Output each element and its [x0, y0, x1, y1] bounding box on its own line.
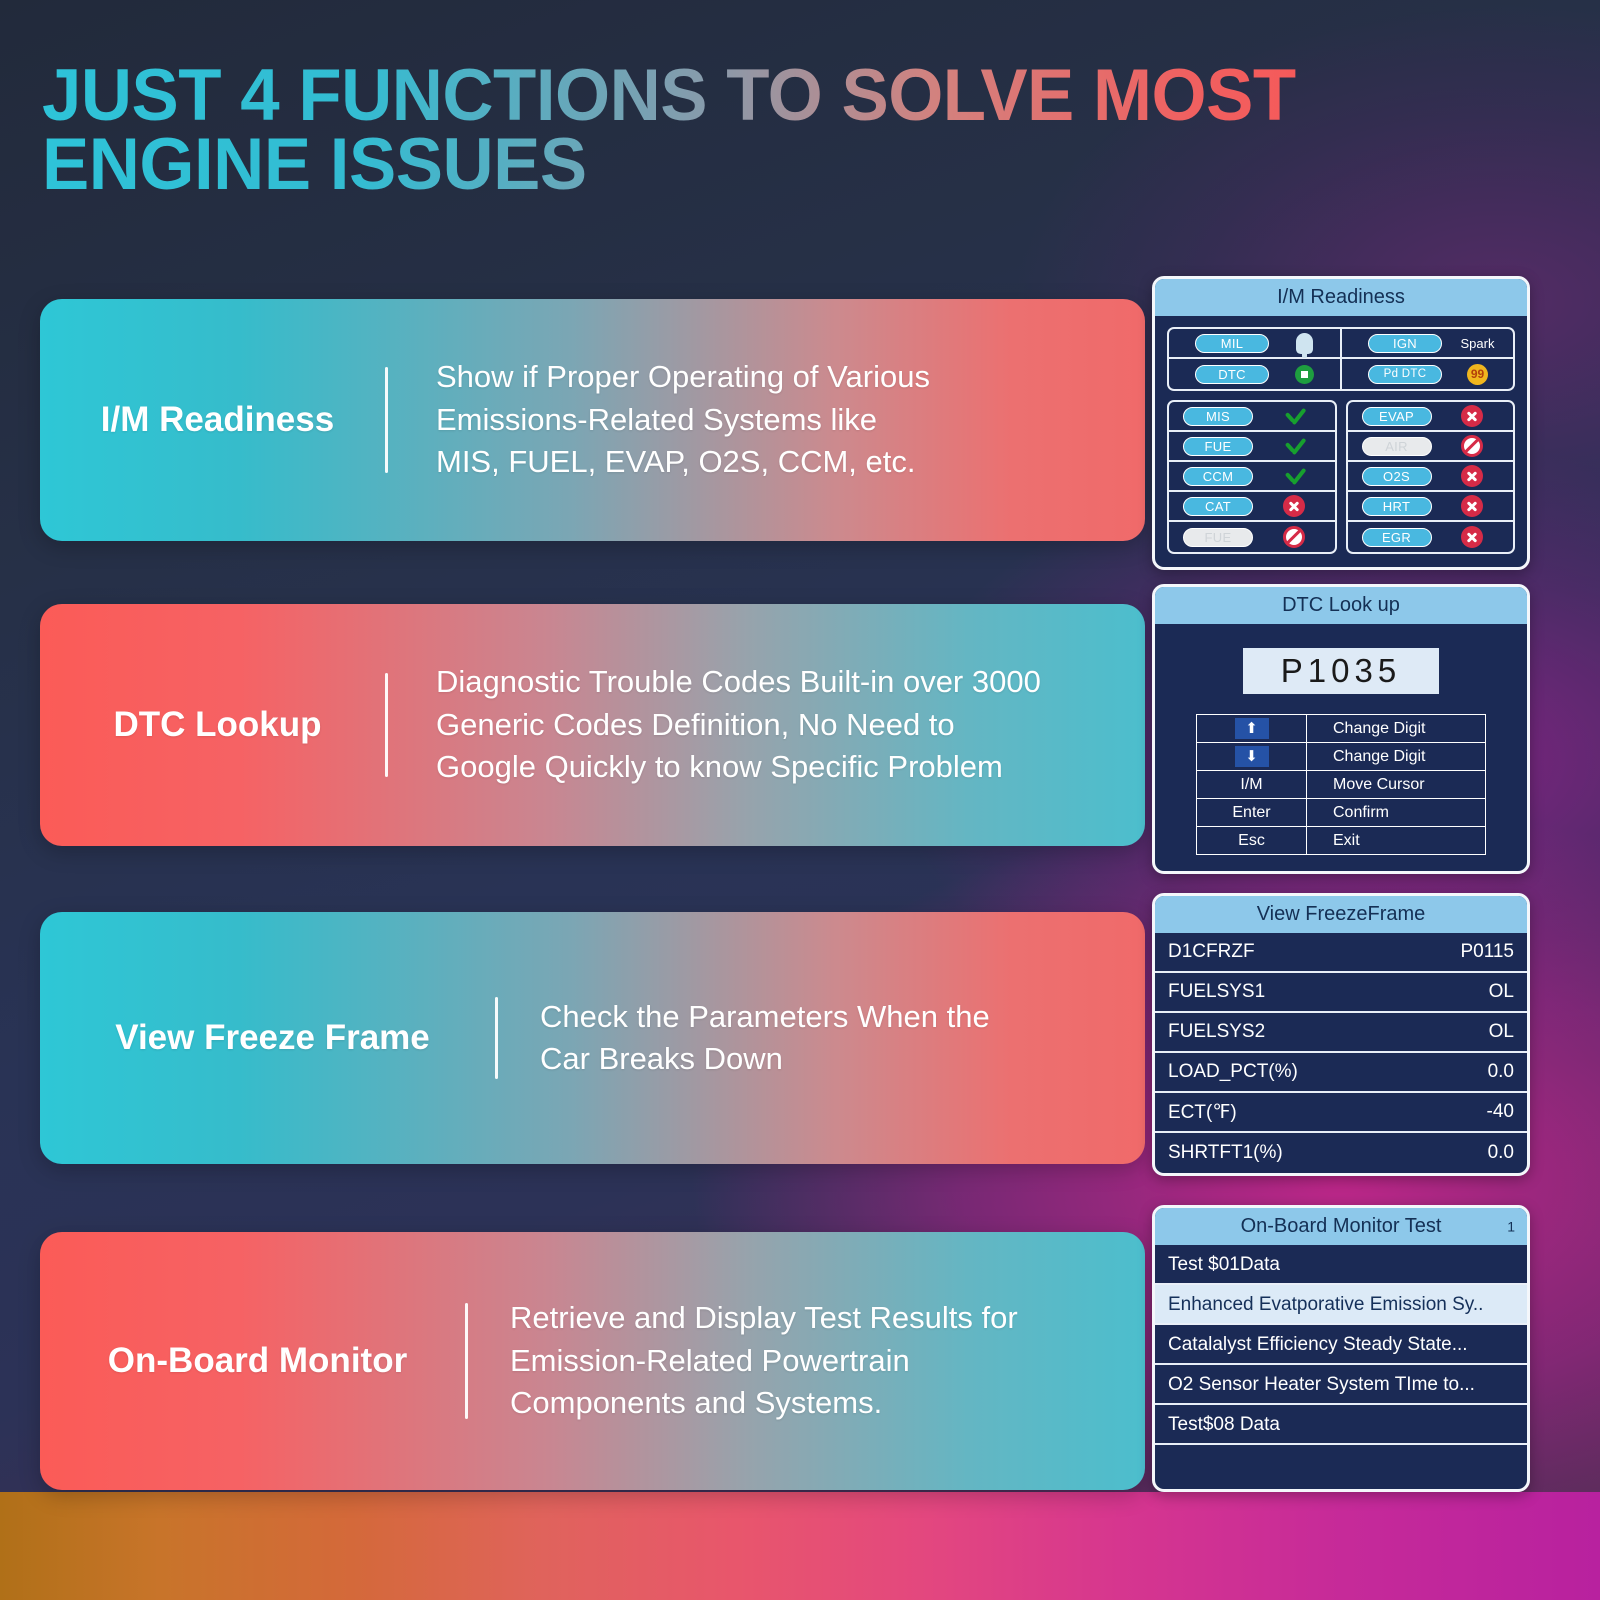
- table-row[interactable]: FUELSYS2 OL: [1155, 1013, 1527, 1053]
- not-available-icon: [1283, 526, 1305, 548]
- check-icon: [1282, 438, 1306, 454]
- desc-line: Google Quickly to know Specific Problem: [436, 746, 1125, 788]
- im-row[interactable]: EGR: [1348, 522, 1514, 552]
- feature-card-title: I/M Readiness: [40, 400, 385, 440]
- feature-card-dtc-lookup[interactable]: DTC Lookup Diagnostic Trouble Codes Buil…: [40, 604, 1145, 846]
- list-item-selected[interactable]: Enhanced Evatporative Emission Sy..: [1155, 1285, 1527, 1325]
- feature-card-description: Diagnostic Trouble Codes Built-in over 3…: [388, 661, 1145, 788]
- status-spark-label: Spark: [1443, 336, 1513, 351]
- status-wrap: [1269, 365, 1340, 384]
- im-row[interactable]: MIS: [1169, 402, 1335, 432]
- param-value: -40: [1487, 1101, 1514, 1123]
- page-title-line-2: ENGINE ISSUES: [42, 131, 1497, 200]
- screen-view-freezeframe: View FreezeFrame D1CFRZF P0115 FUELSYS1 …: [1152, 893, 1530, 1176]
- desc-line: Check the Parameters When the: [540, 996, 1125, 1038]
- panel-body: MIL IGN Spark DTC: [1155, 316, 1527, 567]
- screen-on-board-monitor-test: On-Board Monitor Test 1 Test $01Data Enh…: [1152, 1205, 1530, 1492]
- im-monitor-columns: MIS FUE CCM CAT FUE: [1167, 400, 1515, 554]
- im-row[interactable]: HRT: [1348, 492, 1514, 522]
- panel-title: DTC Look up: [1155, 587, 1527, 624]
- chip-pd-dtc: Pd DTC: [1368, 365, 1442, 384]
- im-cell-mil[interactable]: MIL: [1169, 329, 1340, 357]
- im-cell-dtc[interactable]: DTC: [1169, 359, 1340, 389]
- chip-evap: EVAP: [1362, 407, 1432, 426]
- param-value: P0115: [1460, 941, 1514, 963]
- status-wrap: [1269, 333, 1340, 354]
- im-row[interactable]: EVAP: [1348, 402, 1514, 432]
- table-row[interactable]: ⬇ Change Digit: [1197, 743, 1486, 771]
- im-cell-pd-dtc[interactable]: Pd DTC 99: [1340, 359, 1513, 389]
- feature-card-title: View Freeze Frame: [40, 1018, 495, 1058]
- dtc-code-field[interactable]: P1035: [1243, 648, 1439, 694]
- im-cell-ign[interactable]: IGN Spark: [1340, 329, 1513, 357]
- status-wrap: [1253, 526, 1335, 548]
- status-wrap: [1432, 405, 1514, 427]
- feature-card-view-freeze-frame[interactable]: View Freeze Frame Check the Parameters W…: [40, 912, 1145, 1164]
- status-wrap: [1253, 438, 1335, 454]
- desc-line: Emission-Related Powertrain: [510, 1340, 1125, 1382]
- param-value: OL: [1489, 1021, 1514, 1043]
- key-cell: Esc: [1197, 827, 1307, 855]
- feature-card-title: On-Board Monitor: [40, 1341, 465, 1381]
- param-label: ECT(℉): [1168, 1101, 1237, 1124]
- param-value: 0.0: [1488, 1061, 1514, 1083]
- status-wrap: [1432, 435, 1514, 457]
- chip-mis: MIS: [1183, 407, 1253, 426]
- key-cell: Enter: [1197, 799, 1307, 827]
- action-cell: Exit: [1307, 827, 1486, 855]
- divider: [465, 1303, 468, 1419]
- desc-line: Emissions-Related Systems like: [436, 399, 1125, 441]
- im-row[interactable]: CAT: [1169, 492, 1335, 522]
- desc-line: Show if Proper Operating of Various: [436, 356, 1125, 398]
- panel-title: On-Board Monitor Test 1: [1155, 1208, 1527, 1245]
- feature-card-on-board-monitor[interactable]: On-Board Monitor Retrieve and Display Te…: [40, 1232, 1145, 1490]
- param-label: SHRTFT1(%): [1168, 1142, 1283, 1164]
- feature-card-description: Check the Parameters When the Car Breaks…: [498, 996, 1145, 1081]
- param-value: OL: [1489, 981, 1514, 1003]
- im-row: MIL IGN Spark: [1169, 329, 1513, 359]
- chip-ccm: CCM: [1183, 467, 1253, 486]
- table-row[interactable]: I/M Move Cursor: [1197, 771, 1486, 799]
- action-cell: Confirm: [1307, 799, 1486, 827]
- param-value: 0.0: [1488, 1142, 1514, 1164]
- cross-icon: [1461, 495, 1483, 517]
- table-row[interactable]: SHRTFT1(%) 0.0: [1155, 1133, 1527, 1173]
- chip-cat: CAT: [1183, 497, 1253, 516]
- status-wrap: [1253, 408, 1335, 424]
- panel-body: Test $01Data Enhanced Evatporative Emiss…: [1155, 1245, 1527, 1489]
- feature-card-im-readiness[interactable]: I/M Readiness Show if Proper Operating o…: [40, 299, 1145, 541]
- table-row[interactable]: LOAD_PCT(%) 0.0: [1155, 1053, 1527, 1093]
- im-right-monitors: EVAP AIR O2S HRT EGR: [1346, 400, 1516, 554]
- chip-fue: FUE: [1183, 437, 1253, 456]
- panel-body: D1CFRZF P0115 FUELSYS1 OL FUELSYS2 OL LO…: [1155, 933, 1527, 1173]
- panel-title-text: On-Board Monitor Test: [1241, 1215, 1442, 1237]
- chip-hrt: HRT: [1362, 497, 1432, 516]
- chip-dtc: DTC: [1195, 365, 1269, 384]
- status-wrap: [1432, 495, 1514, 517]
- screen-dtc-lookup: DTC Look up P1035 ⬆ Change Digit ⬇ Chang…: [1152, 584, 1530, 874]
- list-item[interactable]: O2 Sensor Heater System TIme to...: [1155, 1365, 1527, 1405]
- down-arrow-icon[interactable]: ⬇: [1235, 746, 1269, 767]
- im-row[interactable]: CCM: [1169, 462, 1335, 492]
- im-left-monitors: MIS FUE CCM CAT FUE: [1167, 400, 1337, 554]
- page-number: 1: [1507, 1219, 1515, 1234]
- page-title: JUST 4 FUNCTIONS TO SOLVE MOST ENGINE IS…: [42, 62, 1497, 199]
- desc-line: Diagnostic Trouble Codes Built-in over 3…: [436, 661, 1125, 703]
- table-row[interactable]: D1CFRZF P0115: [1155, 933, 1527, 973]
- key-cell: I/M: [1197, 771, 1307, 799]
- im-row[interactable]: FUE: [1169, 522, 1335, 552]
- list-item[interactable]: Test$08 Data: [1155, 1405, 1527, 1445]
- im-top-group: MIL IGN Spark DTC: [1167, 327, 1515, 391]
- divider: [385, 367, 388, 473]
- panel-title: View FreezeFrame: [1155, 896, 1527, 933]
- check-icon: [1282, 408, 1306, 424]
- lightbulb-icon: [1296, 333, 1313, 354]
- cross-icon: [1461, 526, 1483, 548]
- table-row[interactable]: ⬆ Change Digit: [1197, 715, 1486, 743]
- feature-card-description: Show if Proper Operating of Various Emis…: [388, 356, 1145, 483]
- status-wrap: [1432, 526, 1514, 548]
- green-square-icon: [1295, 365, 1314, 384]
- cross-icon: [1283, 495, 1305, 517]
- action-cell: Move Cursor: [1307, 771, 1486, 799]
- chip-o2s: O2S: [1362, 467, 1432, 486]
- key-cell: ⬇: [1197, 743, 1307, 771]
- im-row[interactable]: AIR: [1348, 432, 1514, 462]
- action-cell: Change Digit: [1307, 715, 1486, 743]
- cross-icon: [1461, 405, 1483, 427]
- key-cell: ⬆: [1197, 715, 1307, 743]
- chip-mil: MIL: [1195, 334, 1269, 353]
- param-label: D1CFRZF: [1168, 941, 1255, 963]
- desc-line: Components and Systems.: [510, 1382, 1125, 1424]
- table-row[interactable]: Esc Exit: [1197, 827, 1486, 855]
- desc-line: MIS, FUEL, EVAP, O2S, CCM, etc.: [436, 441, 1125, 483]
- im-row[interactable]: O2S: [1348, 462, 1514, 492]
- param-label: FUELSYS1: [1168, 981, 1265, 1003]
- list-item[interactable]: Catalalyst Efficiency Steady State...: [1155, 1325, 1527, 1365]
- status-wrap: [1253, 468, 1335, 484]
- chip-egr: EGR: [1362, 528, 1432, 547]
- status-wrap: Spark: [1442, 336, 1513, 351]
- list-item-empty[interactable]: [1155, 1445, 1527, 1489]
- param-label: LOAD_PCT(%): [1168, 1061, 1298, 1083]
- divider: [385, 673, 388, 777]
- up-arrow-icon[interactable]: ⬆: [1235, 718, 1269, 739]
- list-item[interactable]: Test $01Data: [1155, 1245, 1527, 1285]
- feature-card-title: DTC Lookup: [40, 705, 385, 745]
- check-icon: [1282, 468, 1306, 484]
- status-wrap: [1253, 495, 1335, 517]
- chip-air-disabled: AIR: [1362, 437, 1432, 456]
- table-row[interactable]: ECT(℉) -40: [1155, 1093, 1527, 1133]
- chip-ign: IGN: [1368, 334, 1442, 353]
- action-cell: Change Digit: [1307, 743, 1486, 771]
- status-wrap: [1432, 465, 1514, 487]
- im-row[interactable]: FUE: [1169, 432, 1335, 462]
- panel-body: P1035 ⬆ Change Digit ⬇ Change Digit I/M …: [1155, 624, 1527, 871]
- screen-im-readiness: I/M Readiness MIL IGN Spark: [1152, 276, 1530, 570]
- desc-line: Retrieve and Display Test Results for: [510, 1297, 1125, 1339]
- status-wrap: 99: [1442, 364, 1513, 385]
- param-label: FUELSYS2: [1168, 1021, 1265, 1043]
- feature-card-description: Retrieve and Display Test Results for Em…: [468, 1297, 1145, 1424]
- desc-line: Generic Codes Definition, No Need to: [436, 704, 1125, 746]
- desc-line: Car Breaks Down: [540, 1038, 1125, 1080]
- chip-fue-disabled: FUE: [1183, 528, 1253, 547]
- dtc-key-help-table: ⬆ Change Digit ⬇ Change Digit I/M Move C…: [1196, 714, 1486, 855]
- im-row: DTC Pd DTC 99: [1169, 359, 1513, 389]
- table-row[interactable]: FUELSYS1 OL: [1155, 973, 1527, 1013]
- count-badge-icon: 99: [1467, 364, 1488, 385]
- table-row[interactable]: Enter Confirm: [1197, 799, 1486, 827]
- not-available-icon: [1461, 435, 1483, 457]
- page-title-line-1: JUST 4 FUNCTIONS TO SOLVE MOST: [42, 62, 1497, 131]
- cross-icon: [1461, 465, 1483, 487]
- divider: [495, 997, 498, 1079]
- panel-title: I/M Readiness: [1155, 279, 1527, 316]
